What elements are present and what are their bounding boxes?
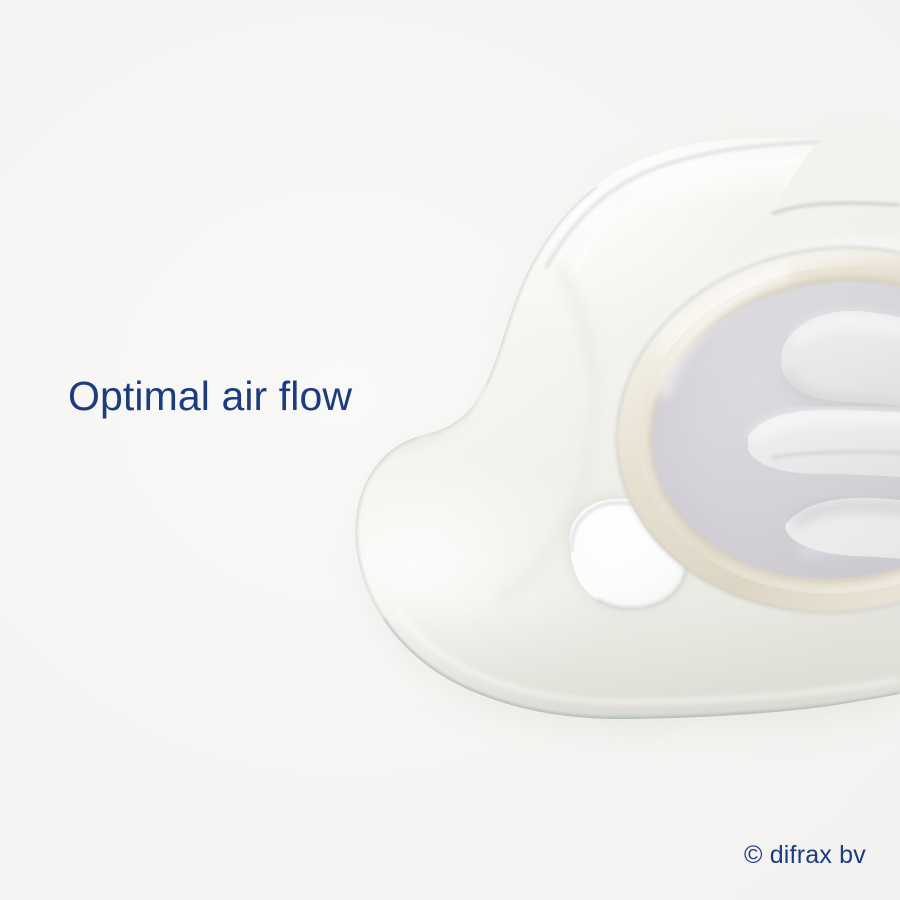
copyright-text: © difrax bv bbox=[744, 841, 866, 870]
pacifier-illustration bbox=[0, 0, 900, 900]
pacifier-svg bbox=[0, 0, 900, 900]
product-image-canvas: Optimal air flow © difrax bv bbox=[0, 0, 900, 900]
headline-text: Optimal air flow bbox=[68, 374, 352, 418]
